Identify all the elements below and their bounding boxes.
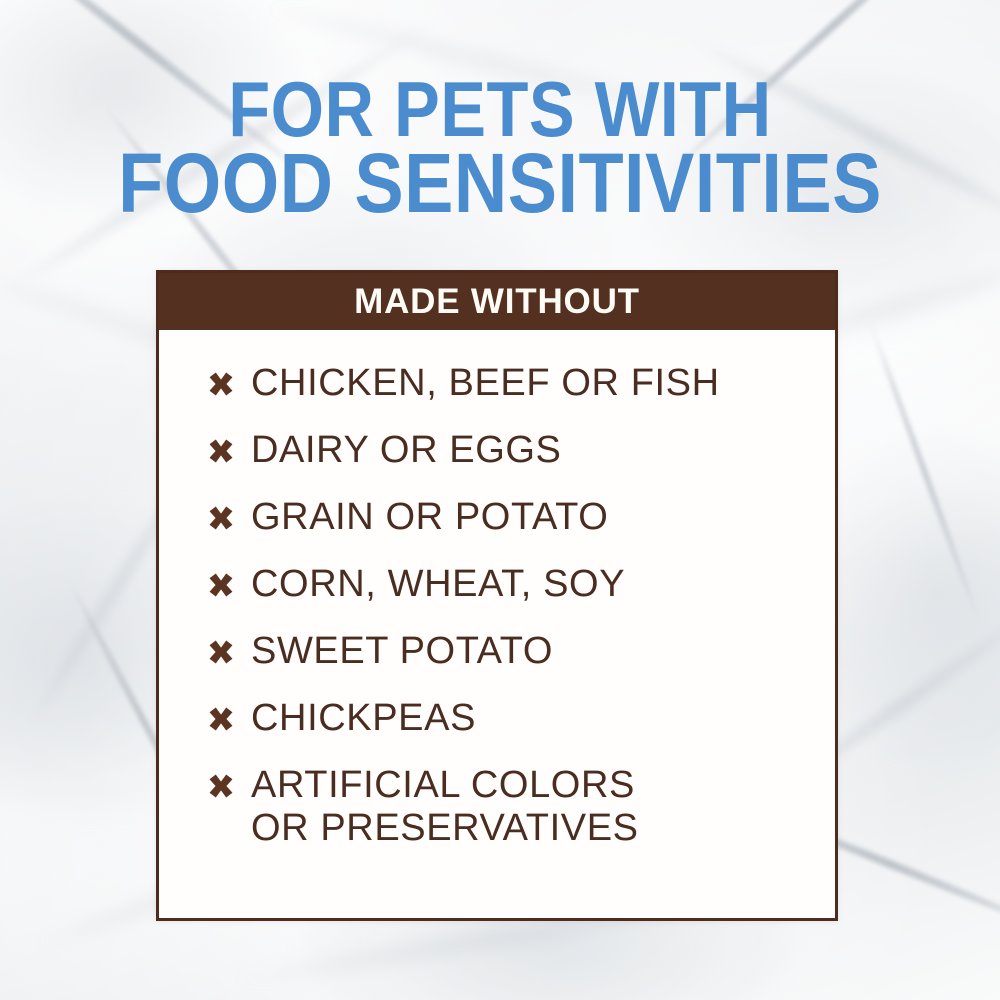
x-mark-icon [208, 496, 238, 539]
list-item: SWEET POTATO [208, 630, 807, 673]
card-header-title: MADE WITHOUT [354, 282, 640, 322]
list-item-label: CHICKEN, BEEF OR FISH [251, 362, 720, 405]
list-item: CHICKPEAS [208, 697, 807, 740]
list-item-label: CORN, WHEAT, SOY [251, 563, 625, 606]
list-item: GRAIN OR POTATO [208, 496, 807, 539]
list-item: CORN, WHEAT, SOY [208, 563, 807, 606]
list-item-label: DAIRY OR EGGS [251, 429, 561, 472]
x-mark-icon [208, 630, 238, 673]
x-mark-icon [208, 764, 238, 807]
page-title: FOR PETS WITH FOOD SENSITIVITIES [60, 72, 940, 220]
list-item: CHICKEN, BEEF OR FISH [208, 362, 807, 405]
list-item: DAIRY OR EGGS [208, 429, 807, 472]
page-title-line-1: FOR PETS WITH [60, 72, 940, 146]
list-item-label: SWEET POTATO [251, 630, 553, 673]
made-without-list: CHICKEN, BEEF OR FISH DAIRY OR EGGS GRAI… [159, 330, 835, 860]
card-header: MADE WITHOUT [159, 273, 835, 330]
list-item-label: CHICKPEAS [251, 697, 476, 740]
list-item-label: GRAIN OR POTATO [251, 496, 608, 539]
poster-canvas: FOR PETS WITH FOOD SENSITIVITIES MADE WI… [0, 0, 1000, 1000]
page-title-line-2: FOOD SENSITIVITIES [60, 146, 940, 220]
x-mark-icon [208, 429, 238, 472]
x-mark-icon [208, 563, 238, 606]
x-mark-icon [208, 697, 238, 740]
list-item: ARTIFICIAL COLORS OR PRESERVATIVES [208, 764, 807, 850]
list-item-label: ARTIFICIAL COLORS OR PRESERVATIVES [251, 764, 639, 850]
made-without-card: MADE WITHOUT CHICKEN, BEEF OR FISH DAIRY… [156, 270, 838, 921]
x-mark-icon [208, 362, 238, 405]
